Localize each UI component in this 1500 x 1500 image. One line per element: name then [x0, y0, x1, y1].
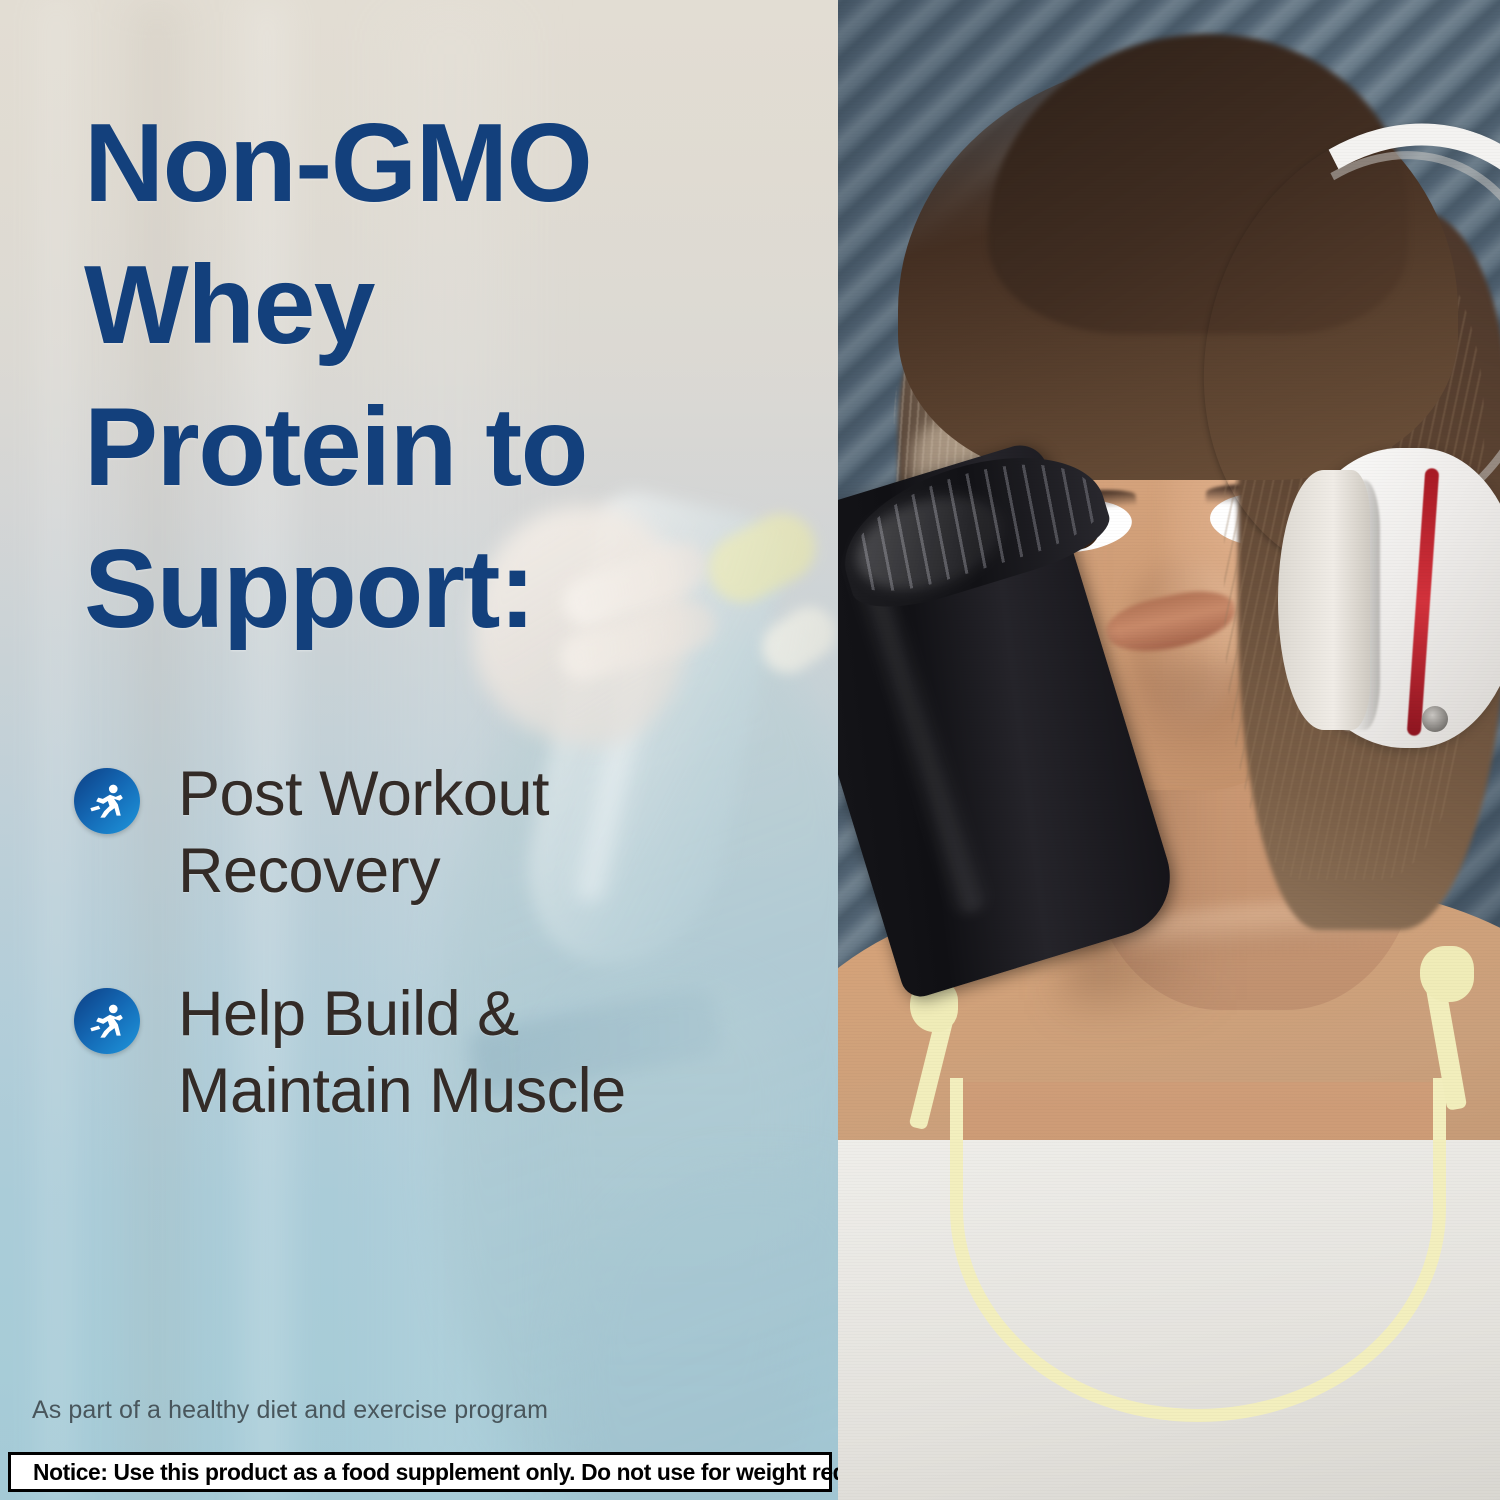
- benefit-label: Post Workout Recovery: [178, 756, 549, 910]
- disclaimer-text: As part of a healthy diet and exercise p…: [32, 1396, 548, 1425]
- runner-icon: [74, 988, 140, 1054]
- list-item: Post Workout Recovery: [74, 756, 774, 910]
- notice-text: Notice: Use this product as a food suppl…: [33, 1459, 918, 1486]
- background-blur-band: [28, 0, 88, 1500]
- headphone-port: [1422, 706, 1448, 732]
- ghost-shoulder: [568, 1170, 838, 1500]
- notice-box: Notice: Use this product as a food suppl…: [8, 1452, 832, 1492]
- headphone-earpad: [1278, 470, 1370, 730]
- runner-icon: [74, 768, 140, 834]
- left-content-panel: Non-GMO Whey Protein to Support: Post Wo…: [0, 0, 838, 1500]
- product-infographic: Non-GMO Whey Protein to Support: Post Wo…: [0, 0, 1500, 1500]
- page-title: Non-GMO Whey Protein to Support:: [84, 92, 784, 660]
- tank-strap-knot-right: [1420, 946, 1474, 1002]
- benefit-list: Post Workout Recovery Help Build & Maint…: [74, 756, 774, 1195]
- lifestyle-photo: [838, 0, 1500, 1500]
- benefit-label: Help Build & Maintain Muscle: [178, 976, 626, 1130]
- list-item: Help Build & Maintain Muscle: [74, 976, 774, 1130]
